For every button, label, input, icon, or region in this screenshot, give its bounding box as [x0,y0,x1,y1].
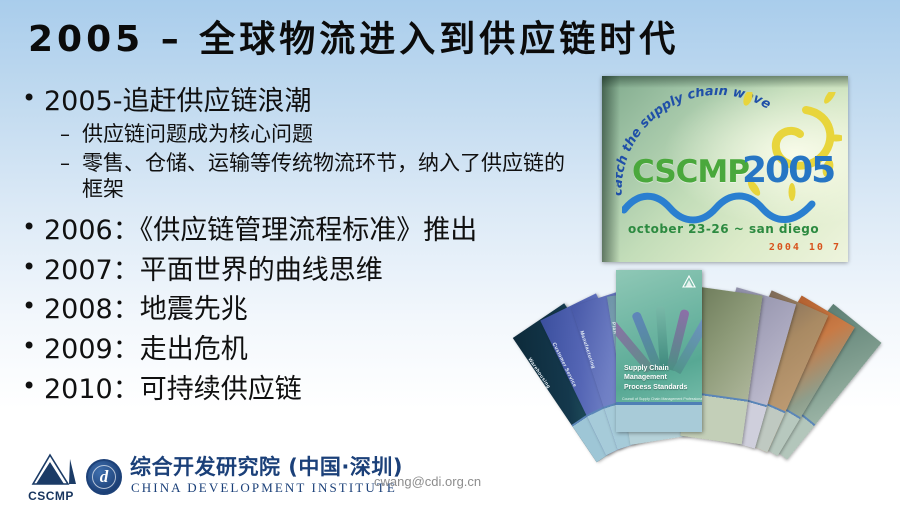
photo-brand-text: CSCMP [632,154,749,190]
cscmp-logo: CSCMP [18,453,84,503]
cscmp-logo-label: CSCMP [18,489,84,503]
front-book-subline: Council of Supply Chain Management Profe… [622,397,702,401]
list-item: 2010：可持续供应链 [18,374,578,406]
front-book-title-line2: Management [624,373,687,382]
photo-year-text: 2005 [742,150,834,191]
cscmp-conference-photo: catch the supply chain wave CSCMP 2005 o… [602,76,848,262]
front-book-cover: Supply Chain Management Process Standard… [616,270,702,432]
list-item: 供应链问题成为核心问题 [18,122,578,148]
list-item: 2007：平面世界的曲线思维 [18,255,578,287]
contact-email: cwang@cdi.org.cn [374,474,481,489]
cscmp-mountain-icon [24,453,78,487]
list-item: 2008：地震先兆 [18,294,578,326]
cscmp-mark-icon [682,275,696,289]
front-book-foot-band [616,402,702,432]
cdi-name-en: CHINA DEVELOPMENT INSTITUTE [131,480,397,496]
cdi-seal-monogram: d [88,461,120,493]
list-item: 2009：走出危机 [18,334,578,366]
book-spine-label: Warehousing [526,357,551,390]
front-book-title-line3: Process Standards [624,383,687,392]
photo-dates-location: october 23-26 ~ san diego [628,222,819,236]
front-book-title-line1: Supply Chain [624,364,687,373]
list-item: 2005-追赶供应链浪潮 [18,86,578,118]
list-item: 2006：《供应链管理流程标准》推出 [18,215,578,247]
slide-canvas: 2005 – 全球物流进入到供应链时代 2005-追赶供应链浪潮 供应链问题成为… [0,0,900,511]
page-title: 2005 – 全球物流进入到供应链时代 [28,10,679,62]
bullet-list: 2005-追赶供应链浪潮 供应链问题成为核心问题 零售、仓储、运输等传统物流环节… [18,86,578,410]
wave-icon [622,188,822,224]
cdi-name-cn: 综合开发研究院 (中国·深圳) [130,451,403,481]
front-book-title: Supply Chain Management Process Standard… [624,364,687,392]
list-item: 零售、仓储、运输等传统物流环节，纳入了供应链的框架 [18,151,582,202]
book-fan-image: Warehousing Customer Service Manufacturi… [530,268,850,444]
cdi-seal-logo: d [86,459,122,495]
photo-top-shadow [602,76,848,88]
photo-camera-timestamp: 2004 10 7 [769,242,841,253]
